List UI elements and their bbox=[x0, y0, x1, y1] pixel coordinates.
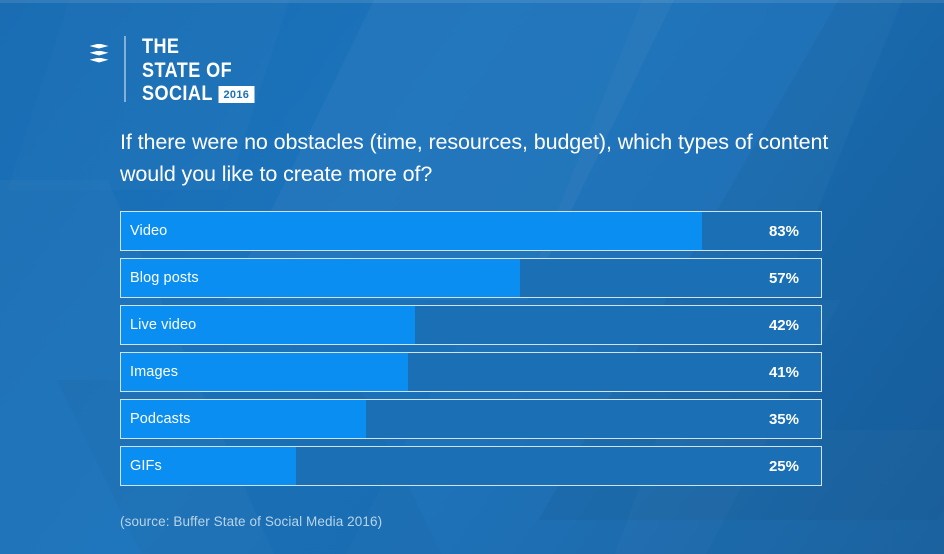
bar-label: Podcasts bbox=[130, 400, 190, 438]
bar-row: GIFs 25% bbox=[120, 446, 822, 486]
bar-label: GIFs bbox=[130, 447, 162, 485]
brand-logo: THE STATE OF SOCIAL 2016 bbox=[88, 36, 267, 106]
layer-shape-middle bbox=[90, 51, 109, 56]
year-badge: 2016 bbox=[219, 86, 255, 103]
page-title: If there were no obstacles (time, resour… bbox=[120, 127, 860, 191]
bar-row: Blog posts 57% bbox=[120, 258, 822, 298]
bar-label: Blog posts bbox=[130, 259, 199, 297]
bar-value: 83% bbox=[769, 212, 799, 250]
bar-value: 42% bbox=[769, 306, 799, 344]
bar-value: 41% bbox=[769, 353, 799, 391]
bar-fill bbox=[121, 212, 702, 250]
bar-value: 35% bbox=[769, 400, 799, 438]
bar-label: Images bbox=[130, 353, 178, 391]
bar-row: Podcasts 35% bbox=[120, 399, 822, 439]
infographic-canvas: THE STATE OF SOCIAL 2016 If there were n… bbox=[0, 0, 944, 554]
brand-line-3-row: SOCIAL 2016 bbox=[142, 83, 250, 106]
brand-line-1: THE bbox=[142, 36, 250, 59]
bar-value: 57% bbox=[769, 259, 799, 297]
content-area: THE STATE OF SOCIAL 2016 If there were n… bbox=[0, 0, 944, 554]
brand-line-2: STATE OF bbox=[142, 60, 250, 83]
bar-value: 25% bbox=[769, 447, 799, 485]
bar-row: Video 83% bbox=[120, 211, 822, 251]
layer-shape-bottom bbox=[90, 58, 109, 63]
bar-chart: Video 83% Blog posts 57% Live video 42% … bbox=[120, 211, 822, 493]
buffer-layers-icon bbox=[88, 40, 110, 66]
logo-divider bbox=[124, 36, 126, 102]
source-note: (source: Buffer State of Social Media 20… bbox=[120, 514, 382, 529]
layer-shape-top bbox=[90, 44, 109, 49]
bar-label: Video bbox=[130, 212, 167, 250]
bar-row: Live video 42% bbox=[120, 305, 822, 345]
bar-row: Images 41% bbox=[120, 352, 822, 392]
bar-label: Live video bbox=[130, 306, 196, 344]
brand-wordmark: THE STATE OF SOCIAL 2016 bbox=[142, 36, 267, 106]
brand-line-3: SOCIAL bbox=[142, 83, 213, 106]
